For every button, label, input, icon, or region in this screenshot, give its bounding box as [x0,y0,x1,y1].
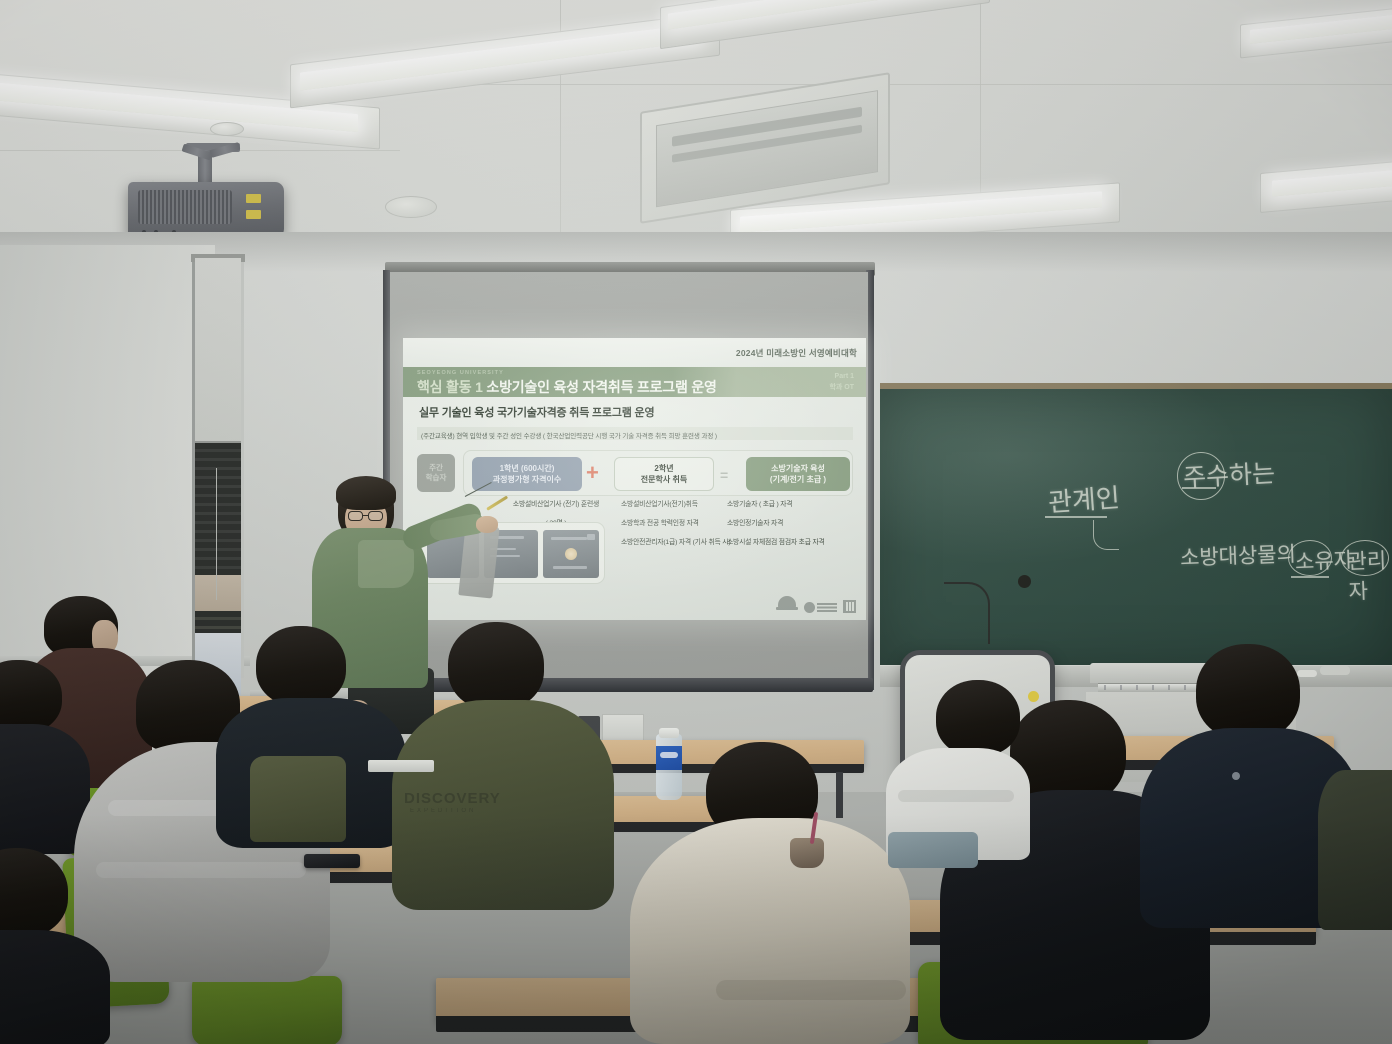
eyeglasses-right-lens [368,511,383,521]
chalkboard-underline [1182,487,1216,489]
column-c-item: 소방시설 자체점검 점검자 초급 자격 [727,538,825,548]
presenter-right-hand [476,516,498,533]
smartphone[interactable] [304,854,360,868]
student-head [936,680,1020,756]
slide-description-strip: (주간교육생) 현역 입학생 및 주간 성인 수강생 ( 한국산업인력공단 시행… [417,427,853,440]
column-c-item: 소방인정기술자 자격 [727,519,825,529]
fleece-fold [716,980,906,1000]
institute-logo-icon [804,602,837,613]
projector-vent-grill [138,190,232,224]
flow-box1-line1: 1학년 (600시간) [500,463,555,474]
jacket-button [1232,772,1240,780]
chalk-piece[interactable] [1297,670,1317,677]
column-c-item: 소방기술자 ( 초급 ) 자격 [727,500,825,510]
slide-banner-highlight: 핵심 활동 1 [417,379,483,395]
window-blind-slats [195,611,241,633]
microphone-stand [944,582,990,644]
slide-title-banner: SEOYEONG UNIVERSITY 핵심 활동 1 소방기술인 육성 자격취… [403,367,866,397]
chalkboard-circle-mark [1341,540,1389,576]
slide-column-c: 소방기술자 ( 초급 ) 자격 소방인정기술자 자격 소방시설 자체점검 점검자… [727,500,825,557]
slide-subtitle: 실무 기술인 육성 국가기술자격증 취득 프로그램 운영 [419,404,654,420]
student-sleeve [888,832,978,868]
classroom-scene: 2024년 미래소방인 서영예비대학 SEOYEONG UNIVERSITY 핵… [0,0,1392,1044]
bottle-label-text [660,752,678,758]
blind-cord[interactable] [216,468,217,600]
chalkboard-note: 소방대상물의 [1180,538,1297,572]
drink-cup[interactable] [790,838,824,868]
slide-university-label: SEOYEONG UNIVERSITY [417,370,504,376]
eyeglasses-left-lens [348,511,363,521]
slide-part-label: Part 1 학과 OT [829,372,854,393]
window-blind-slats [195,443,241,575]
flow-box-year1: 1학년 (600시간) 과정평가형 자격이수 [472,457,582,491]
projector-badge [246,194,261,203]
vest-seam [898,790,1014,802]
backpack[interactable] [250,756,346,842]
slide-part-subtitle: 학과 OT [829,383,854,394]
bottle-cap[interactable] [659,728,679,738]
slide-flow-diagram: 주간 학습자 1학년 (600시간) 과정평가형 자격이수 + 2학년 전문학사… [417,450,853,496]
hoodie-brand-text: DISCOVERY [404,790,526,808]
chalkboard-circle-mark [1177,452,1225,500]
flow-box2-line1: 2학년 [654,463,673,474]
hoodie-brand-subtext: EXPEDITION [410,808,520,818]
bottle-label [656,746,682,770]
helmet-logo-icon [776,596,798,613]
notebook[interactable] [368,760,434,772]
microphone-head[interactable] [1018,575,1031,588]
flow-left-line1: 주간 [429,463,443,473]
smiley-sticker-icon [1028,691,1039,702]
window-blind[interactable] [195,258,241,443]
slide-banner-main: 소방기술인 육성 자격취득 프로그램 운영 [486,379,716,395]
student-head [1196,644,1300,740]
ceiling-projector [128,182,284,238]
slide-description-text: (주간교육생) 현역 입학생 및 주간 성인 수강생 ( 한국산업인력공단 시행… [421,430,717,440]
flow-box-result: 소방기술자 육성 (기계/전기 초급 ) [746,457,850,491]
student-head [256,626,346,706]
puffer-seam [96,862,306,878]
presenter-hair [336,476,396,510]
slide-column-b: 소방설비산업기사(전기)취득 소방학과 전공 학력인정 자격 소방안전관리자(1… [621,500,730,557]
chalkboard-underline [1291,576,1329,578]
window-blind-panel [195,575,241,611]
slide-part-number: Part 1 [829,372,854,383]
flow-box1-line2: 과정평가형 자격이수 [493,474,561,485]
flow-box3-line1: 소방기술자 육성 [771,463,825,474]
slide-screenshot-thumb [543,530,599,578]
slide-logo-group [776,596,856,613]
student-torso [0,930,110,1044]
student-torso [1318,770,1392,930]
classroom-chair[interactable] [192,976,342,1044]
column-b-item: 소방설비산업기사(전기)취득 [621,500,730,510]
chalkboard-circle-mark [1288,540,1332,576]
chalkboard-note: 관계인 [1047,478,1121,520]
flow-box3-line2: (기계/전기 초급 ) [770,474,826,485]
chalkboard-underline [1045,516,1107,518]
flow-left-line2: 학습자 [426,473,447,483]
column-b-item: 소방학과 전공 학력인정 자격 [621,519,730,529]
slide-banner-title: 핵심 활동 1 소방기술인 육성 자격취득 프로그램 운영 [417,377,717,397]
eraser[interactable] [1320,666,1350,675]
flow-equals-icon: = [720,467,727,483]
student-torso [630,818,910,1044]
slide-header-text: 2024년 미래소방인 서영예비대학 [736,347,857,359]
student-head [448,622,544,710]
column-a-item: 소방설비산업기사 (전기) 훈련생 [481,500,631,510]
flow-box2-line2: 전문학사 취득 [641,474,687,485]
column-b-item: 소방안전관리자(1급) 자격 (기사 취득 시) [621,538,730,548]
smoke-detector [210,122,244,136]
ceiling-speaker [385,196,437,218]
flow-plus-icon: + [586,464,608,484]
projector-badge [246,210,261,219]
flow-track: 1학년 (600시간) 과정평가형 자격이수 + 2학년 전문학사 취득 = 소… [463,450,853,496]
qr-logo-icon [843,600,856,613]
eyeglasses-bridge [363,515,369,516]
flow-box-year2: 2학년 전문학사 취득 [614,457,714,491]
chalkboard-hook-mark [1093,520,1119,550]
flow-left-label: 주간 학습자 [417,454,455,492]
